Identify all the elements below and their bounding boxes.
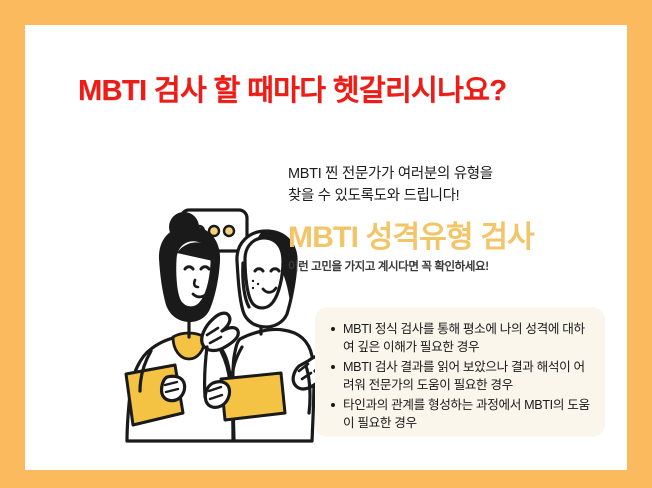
- list-item: MBTI 정식 검사를 통해 평소에 나의 성격에 대하여 깊은 이해가 필요한…: [343, 320, 591, 357]
- lead-line-1: MBTI 찐 전문가가 여러분의 유형을: [288, 163, 618, 185]
- list-item: 타인과의 관계를 형성하는 과정에서 MBTI의 도움이 필요한 경우: [343, 396, 591, 433]
- bullet-list: MBTI 정식 검사를 통해 평소에 나의 성격에 대하여 깊은 이해가 필요한…: [315, 307, 605, 432]
- right-text-column: MBTI 찐 전문가가 여러분의 유형을 찾을 수 있도록도와 드립니다! MB…: [288, 163, 618, 274]
- page-title: MBTI 검사 할 때마다 헷갈리시나요?: [78, 67, 598, 109]
- list-item: MBTI 검사 결과를 읽어 보았으나 결과 해석이 어려워 전문가의 도움이 …: [343, 358, 591, 395]
- poster-root: MBTI 검사 할 때마다 헷갈리시나요?: [0, 0, 652, 488]
- lead-paragraph: MBTI 찐 전문가가 여러분의 유형을 찾을 수 있도록도와 드립니다!: [288, 163, 618, 208]
- kicker-text: 이런 고민을 가지고 계시다면 꼭 확인하세요!: [288, 258, 618, 274]
- poster-card: MBTI 검사 할 때마다 헷갈리시나요?: [25, 25, 627, 470]
- lead-line-2: 찾을 수 있도록도와 드립니다!: [288, 185, 618, 207]
- sub-headline: MBTI 성격유형 검사: [288, 221, 618, 254]
- bullet-panel: MBTI 정식 검사를 통해 평소에 나의 성격에 대하여 깊은 이해가 필요한…: [315, 307, 605, 437]
